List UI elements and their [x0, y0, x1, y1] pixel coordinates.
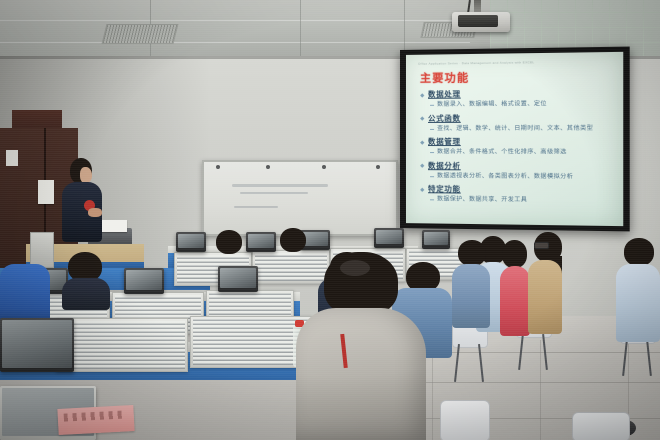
monitor-screen [178, 234, 204, 248]
presentation-slide: Office Application Series · Data Managem… [406, 52, 623, 226]
slide-body: 数据处理 数据录入、数据编辑、格式设置、定位 公式函数 查找、逻辑、数学、统计、… [420, 87, 615, 209]
chair-leg [646, 340, 652, 376]
handwritten-pink-label [57, 405, 134, 435]
chair-seat [440, 400, 490, 440]
audience-member [452, 240, 490, 328]
monitor [422, 230, 450, 249]
partition-louvers [193, 319, 309, 365]
chair-leg [518, 334, 524, 370]
monitor [124, 268, 164, 294]
audience-member [278, 228, 308, 254]
slide-section-detail: 数据合并、条件格式、个性化排序、高级筛选 [420, 147, 615, 158]
slide-section: 特定功能 数据保护、数据共享、开发工具 [420, 183, 615, 206]
whiteboard-writing [232, 184, 328, 187]
monitor-screen [220, 268, 256, 288]
audience-member [528, 232, 566, 336]
projection-screen: Office Application Series · Data Managem… [400, 47, 630, 232]
audience-member [500, 240, 530, 336]
foreground-attendee [296, 252, 426, 440]
monitor-screen [424, 232, 448, 245]
whiteboard-clip [376, 165, 380, 169]
wall-notice-paper [6, 150, 18, 166]
whiteboard-clip [216, 165, 220, 169]
ceiling-vent [102, 24, 179, 44]
slide-section: 数据处理 数据录入、数据编辑、格式设置、定位 [420, 87, 615, 110]
ceiling-seam [0, 42, 470, 43]
monitor [0, 318, 74, 372]
monitor-screen [2, 320, 72, 368]
audience-member [62, 252, 110, 308]
classroom-photo: Office Application Series · Data Managem… [0, 0, 660, 440]
student-head [216, 230, 242, 254]
slide-section: 数据分析 数据透视表分析、各类图表分析、数据模拟分析 [420, 160, 615, 182]
slide-section: 数据管理 数据合并、条件格式、个性化排序、高级筛选 [420, 136, 615, 158]
attendee-head [324, 252, 398, 316]
monitor [176, 232, 206, 252]
audience-member [616, 238, 660, 342]
attendee-head [624, 238, 654, 266]
monitor [374, 228, 404, 248]
audience-member [214, 230, 244, 256]
chair-leg [622, 340, 628, 376]
attendee-torso-blue [452, 264, 490, 328]
slide-section: 公式函数 查找、逻辑、数学、统计、日期时间、文本、其他类型 [420, 112, 615, 134]
attendee-gray-jacket [296, 308, 426, 440]
presenter-hand [88, 208, 102, 217]
chair-leg [454, 344, 460, 382]
attendee-head [458, 240, 486, 266]
monitor-screen [376, 230, 402, 244]
wall-notice-paper [38, 180, 54, 204]
slide-section-heading: 公式函数 [420, 112, 615, 124]
student-head [280, 228, 306, 252]
monitor [246, 232, 276, 252]
whiteboard-writing [234, 206, 278, 208]
presenter-face [80, 167, 92, 183]
whiteboard [202, 160, 398, 236]
student-torso [62, 278, 110, 310]
eyeglasses-icon [534, 242, 549, 249]
whiteboard-clip [322, 165, 326, 169]
slide-section-detail: 数据保护、数据共享、开发工具 [420, 194, 615, 206]
monitor [218, 266, 258, 292]
attendee-head [502, 240, 527, 268]
slide-section-heading: 数据管理 [420, 136, 615, 147]
slide-section-detail: 数据透视表分析、各类图表分析、数据模拟分析 [420, 171, 615, 182]
whiteboard-clip [266, 165, 270, 169]
partition-louvers [59, 321, 185, 369]
whiteboard-writing [240, 192, 308, 194]
attendee-torso-beige [528, 260, 562, 334]
slide-header-note: Office Application Series · Data Managem… [418, 59, 615, 66]
monitor-screen [248, 234, 274, 248]
slide-section-detail: 数据录入、数据编辑、格式设置、定位 [420, 99, 615, 110]
hair-highlight [340, 260, 370, 276]
attendee-torso-pink [500, 266, 530, 336]
label-handwriting [64, 411, 122, 422]
ceiling-seam [300, 0, 301, 58]
desk-partition [56, 318, 188, 372]
ceiling-projector [452, 12, 510, 32]
slide-section-detail: 查找、逻辑、数学、统计、日期时间、文本、其他类型 [420, 123, 615, 134]
ceiling-seam [0, 20, 470, 21]
projector-lens [458, 15, 498, 27]
chair-leg [542, 334, 548, 370]
chair-leg [478, 344, 484, 382]
monitor-screen [126, 270, 162, 290]
chair-seat [572, 412, 630, 440]
presenter [58, 158, 104, 254]
slide-title: 主要功能 [420, 69, 469, 86]
attendee-torso-lightblue [616, 264, 660, 342]
